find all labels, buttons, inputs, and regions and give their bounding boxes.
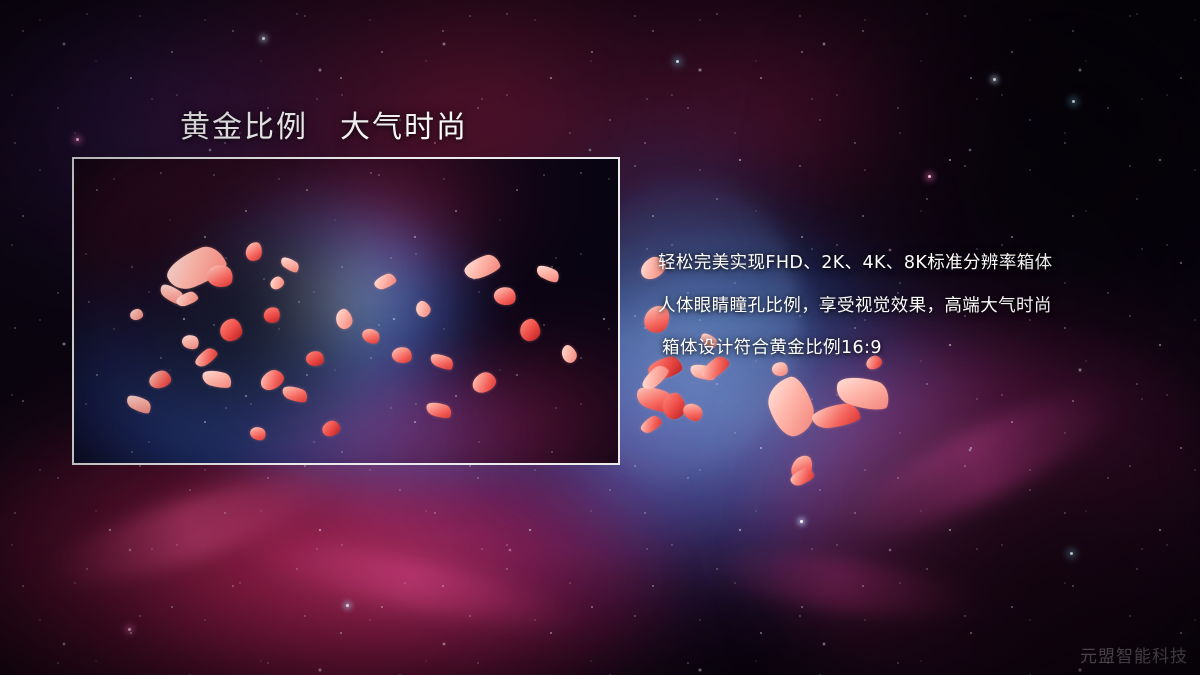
- body-line-3: 箱体设计符合黄金比例16:9: [662, 340, 1178, 358]
- slide-canvas: 黄金比例 大气时尚 轻松完美实现FHD、2K、4K、8K标准分辨率箱体 人体眼睛…: [0, 0, 1200, 675]
- bright-star: [128, 628, 131, 631]
- bright-star: [928, 175, 931, 178]
- bright-star: [346, 604, 349, 607]
- bright-star: [993, 78, 996, 81]
- bright-star: [262, 37, 265, 40]
- page-title: 黄金比例 大气时尚: [180, 102, 468, 146]
- panel-image-content: [74, 159, 618, 463]
- bright-star: [800, 520, 803, 523]
- bright-star: [1072, 100, 1075, 103]
- body-line-1: 轻松完美实现FHD、2K、4K、8K标准分辨率箱体: [658, 255, 1178, 273]
- bright-star: [76, 138, 79, 141]
- bright-star: [676, 60, 679, 63]
- bright-star: [1070, 552, 1073, 555]
- watermark-text: 元盟智能科技: [1080, 642, 1188, 667]
- framed-image-panel[interactable]: [72, 157, 620, 465]
- body-line-2: 人体眼睛瞳孔比例，享受视觉效果，高端大气时尚: [658, 298, 1178, 316]
- body-text-block: 轻松完美实现FHD、2K、4K、8K标准分辨率箱体 人体眼睛瞳孔比例，享受视觉效…: [658, 255, 1178, 358]
